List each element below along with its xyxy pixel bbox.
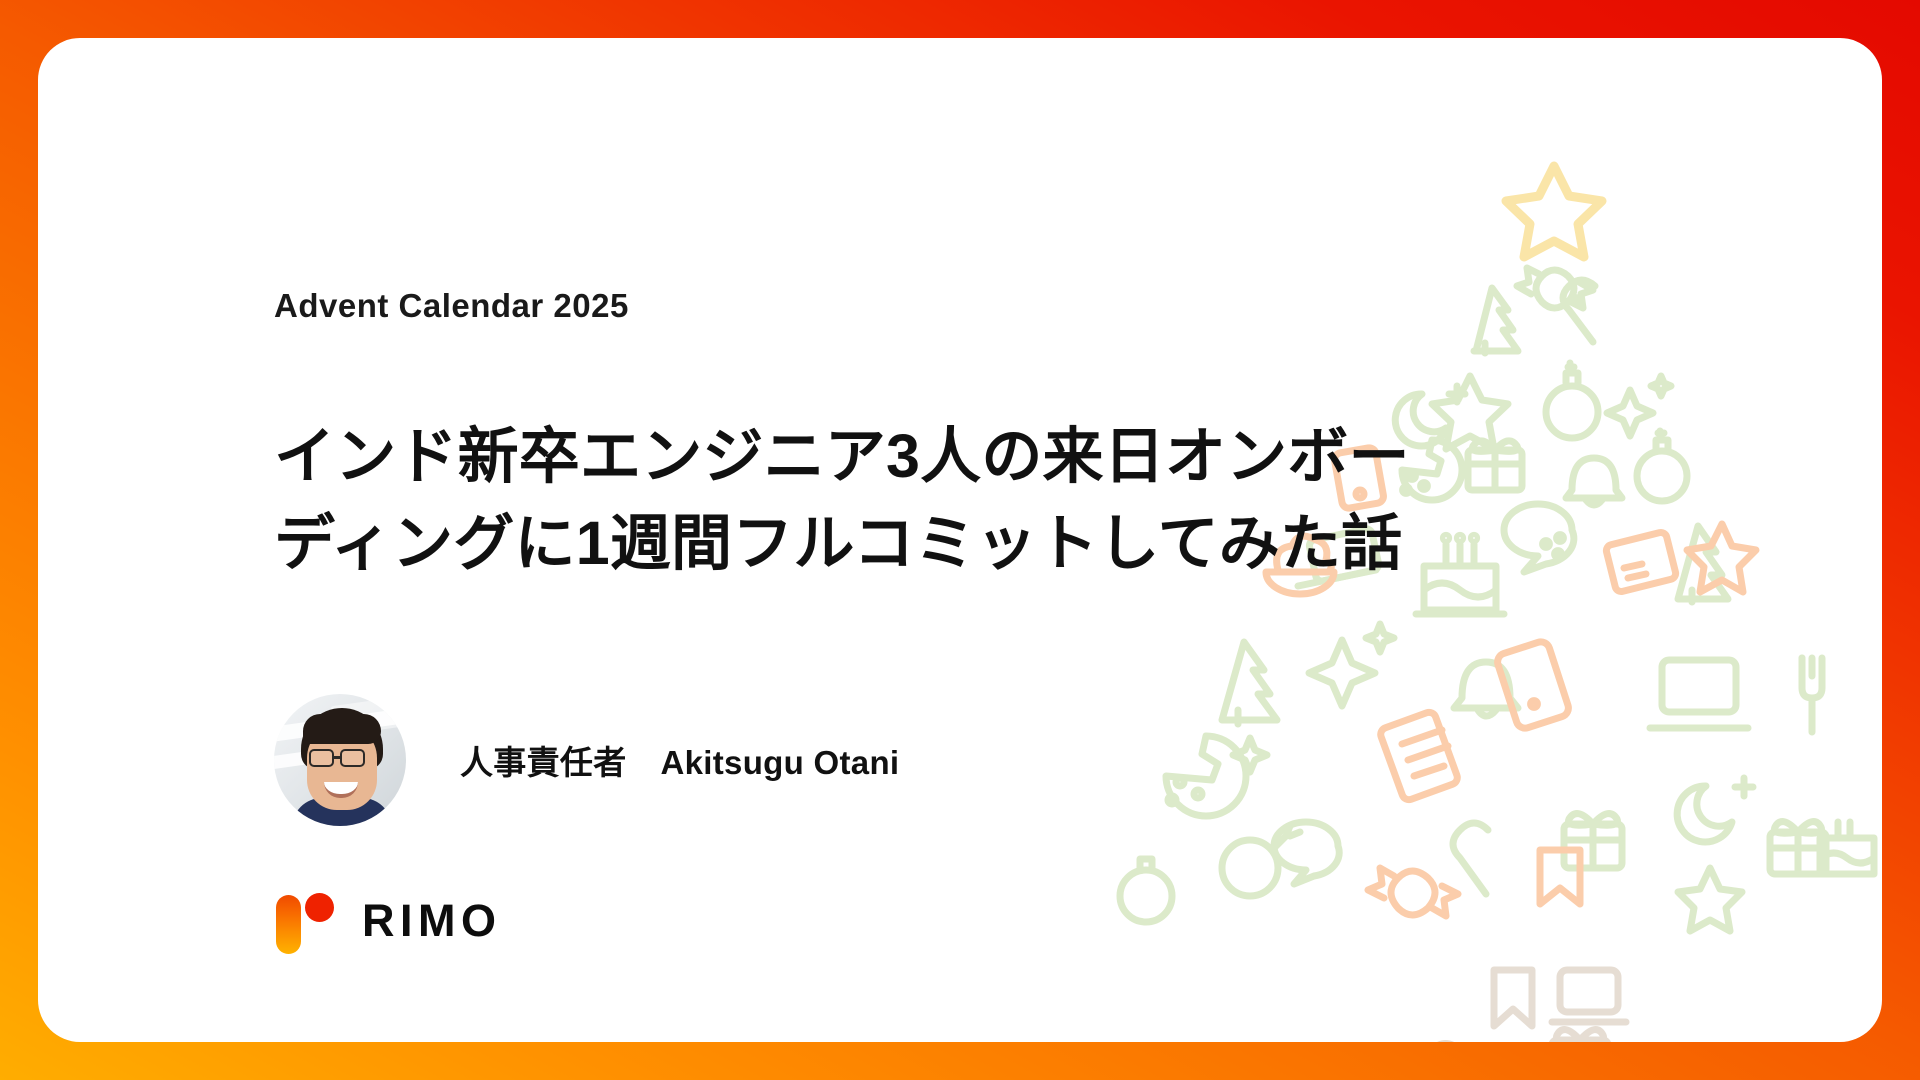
byline: 人事責任者Akitsugu Otani: [274, 694, 899, 826]
rimo-logo: RIMO: [274, 886, 502, 954]
card-content: Advent Calendar 2025 インド新卒エンジニア3人の来日オンボー…: [234, 38, 1494, 1042]
ogp-card: Advent Calendar 2025 インド新卒エンジニア3人の来日オンボー…: [38, 38, 1882, 1042]
rimo-wordmark: RIMO: [362, 898, 502, 943]
avatar: [274, 694, 406, 826]
star-topper-icon: [1506, 166, 1602, 257]
author-name: Akitsugu Otani: [661, 744, 900, 781]
byline-text: 人事責任者Akitsugu Otani: [460, 736, 899, 784]
rimo-logo-mark-icon: [274, 886, 336, 954]
ogp-gradient-frame: Advent Calendar 2025 インド新卒エンジニア3人の来日オンボー…: [0, 0, 1920, 1080]
author-role: 人事責任者: [460, 744, 627, 781]
page-title: インド新卒エンジニア3人の来日オンボーディングに1週間フルコミットしてみた話: [274, 413, 1464, 586]
eyebrow-label: Advent Calendar 2025: [274, 287, 629, 325]
